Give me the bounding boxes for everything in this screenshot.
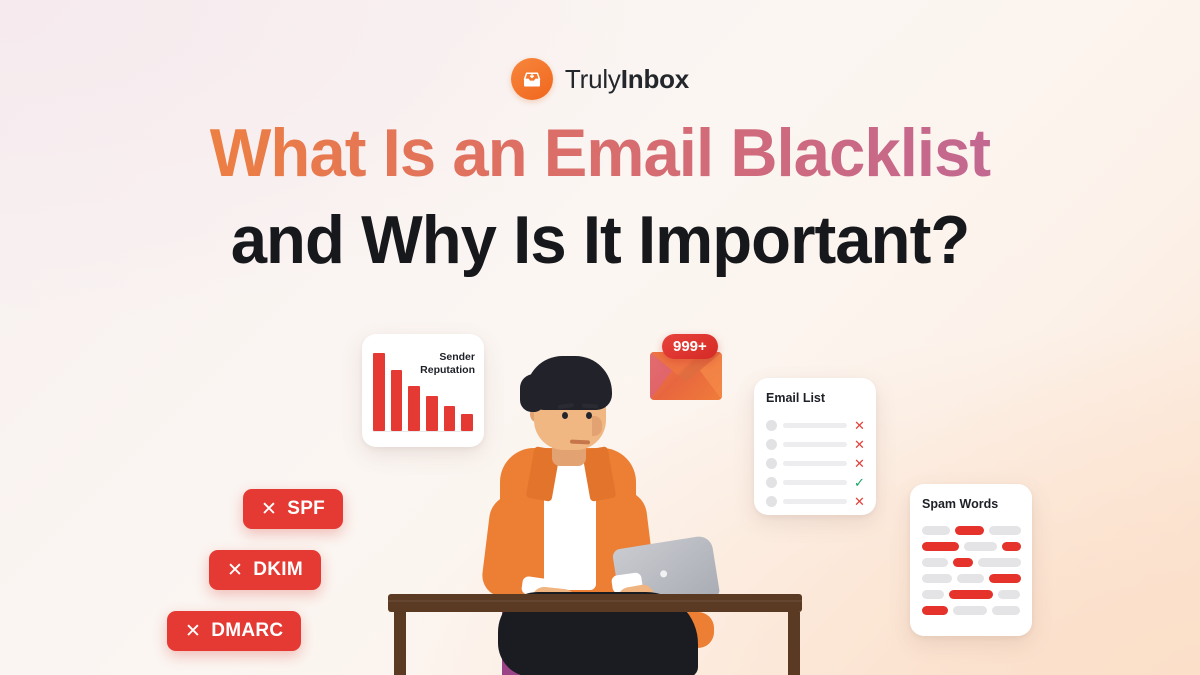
laptop-logo (660, 570, 668, 578)
x-mark-icon: ✕ (227, 561, 243, 580)
spam-word-pill (922, 590, 944, 599)
poster-canvas: TrulyInbox What Is an Email Blacklist an… (0, 0, 1200, 675)
page-title: What Is an Email Blacklist and Why Is It… (0, 118, 1200, 275)
spam-word-pill (978, 558, 1022, 567)
desk-grain (388, 600, 802, 602)
spam-word-pill (992, 606, 1020, 615)
spam-word-pill (957, 574, 985, 583)
spam-word-pill (922, 526, 950, 535)
spam-words-row (922, 586, 1021, 602)
spam-word-pill (922, 558, 948, 567)
desk-top (388, 594, 802, 612)
spam-word-pill-flagged (989, 574, 1021, 583)
eye-left (562, 412, 568, 419)
spam-words-card[interactable]: Spam Words (910, 484, 1032, 636)
brand-name-bold: Inbox (621, 64, 689, 94)
brand-name-regular: Truly (565, 64, 621, 94)
spam-words-row (922, 602, 1021, 618)
headline-line-2: and Why Is It Important? (24, 205, 1176, 276)
shin (626, 612, 693, 675)
inbox-tray-icon (511, 58, 553, 100)
spam-word-pill-flagged (953, 558, 973, 567)
brand-name: TrulyInbox (565, 64, 689, 95)
desk-leg-right (788, 612, 800, 675)
auth-badge-spf[interactable]: ✕ SPF (243, 489, 343, 529)
spam-words-row (922, 538, 1021, 554)
desk-leg-left (394, 612, 406, 675)
man-at-desk-illustration (330, 330, 870, 675)
spam-word-pill-flagged (949, 590, 993, 599)
spam-words-row (922, 554, 1021, 570)
spam-word-pill (964, 542, 997, 551)
hair (526, 356, 612, 410)
spam-word-pill (989, 526, 1021, 535)
auth-badge-dmarc[interactable]: ✕ DMARC (167, 611, 301, 651)
headline-line-1: What Is an Email Blacklist (24, 118, 1176, 189)
spam-word-pill (953, 606, 987, 615)
auth-badge-dmarc-label: DMARC (211, 620, 283, 642)
spam-words-row (922, 522, 1021, 538)
spam-word-pill (998, 590, 1020, 599)
auth-badge-dkim-label: DKIM (253, 559, 303, 581)
spam-word-pill-flagged (922, 542, 959, 551)
x-mark-icon: ✕ (185, 622, 201, 641)
auth-badge-spf-label: SPF (287, 498, 325, 520)
spam-words-row (922, 570, 1021, 586)
spam-word-pill (922, 574, 952, 583)
spam-words-rows (922, 522, 1021, 618)
spam-words-title: Spam Words (922, 497, 998, 511)
spam-word-pill-flagged (955, 526, 985, 535)
brand-logo[interactable]: TrulyInbox (0, 58, 1200, 100)
spam-word-pill-flagged (1002, 542, 1021, 551)
auth-badge-dkim[interactable]: ✕ DKIM (209, 550, 321, 590)
spam-word-pill-flagged (922, 606, 948, 615)
x-mark-icon: ✕ (261, 500, 277, 519)
eye-right (586, 412, 592, 419)
